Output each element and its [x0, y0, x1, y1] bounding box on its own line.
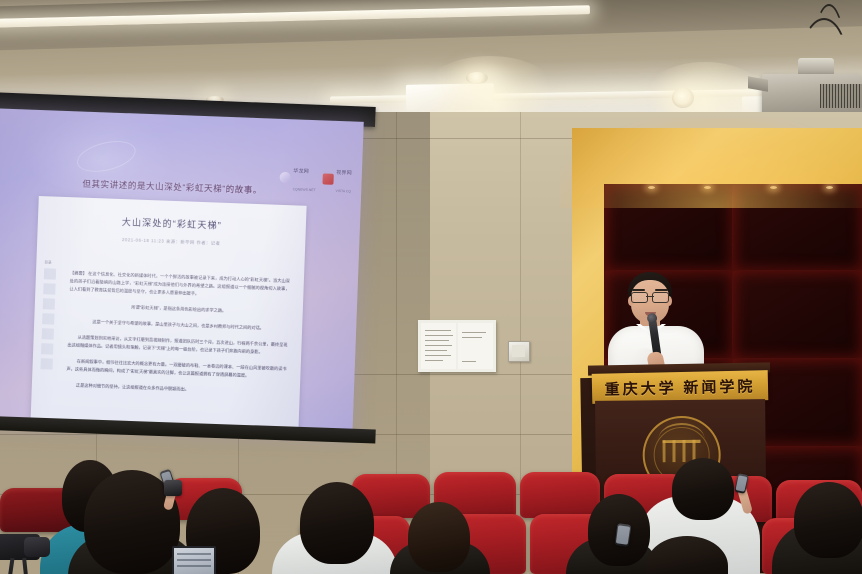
- light-switch[interactable]: [508, 341, 530, 362]
- logo-mark-icon: [280, 171, 291, 182]
- rail-block: [43, 283, 55, 294]
- logo-name: 华龙网: [293, 168, 309, 175]
- rail-caption: 目录: [44, 260, 56, 265]
- speaker-eyebrow: [655, 289, 668, 291]
- wall-notice: [418, 320, 496, 372]
- document-meta: 2021-06-18 11:23 来源：新华网 作者：记者: [37, 234, 305, 250]
- tripod-leg: [6, 558, 15, 574]
- audience-area: [0, 458, 862, 574]
- document-title: 大山深处的“彩虹天梯”: [38, 212, 306, 235]
- panel-led: [826, 186, 833, 189]
- notice-page-right: [458, 323, 493, 369]
- document-paragraph: 从选题策划到实地采访，从文字打磨到音视频制作，报道团队历时三个月，五次进山，行程…: [67, 333, 287, 357]
- logo-mark-icon: [323, 173, 334, 184]
- glasses-icon: [631, 292, 669, 301]
- auditorium-seat[interactable]: [520, 472, 600, 518]
- audience-person-head: [672, 458, 734, 520]
- ceiling-downlight: [672, 88, 694, 108]
- ceiling-beam: [0, 0, 862, 51]
- red-wall-panel: [732, 184, 862, 272]
- ceiling-downlight: [466, 72, 488, 84]
- seal-arc: [658, 423, 704, 455]
- speaker-eyebrow: [632, 289, 645, 291]
- document-paragraph: 这是一个关于坚守与希望的故事，是山里孩子与大山之间，也是乡村教师与时代之间的对话…: [68, 317, 288, 333]
- camera-icon: [164, 480, 182, 496]
- lecture-hall-photo: 华龙网 CQNEWS.NET 视界网 VISTA CQ 但其实讲述的是大山深处“…: [0, 0, 862, 574]
- panel-led: [704, 186, 711, 189]
- video-camera-rig: [0, 534, 60, 574]
- document-body: 【摘要】 在这个信息化、社交化的新媒体时代，一个个鲜活的故事被记录下来，成为打动…: [65, 269, 290, 405]
- projection-screen: 华龙网 CQNEWS.NET 视界网 VISTA CQ 但其实讲述的是大山深处“…: [0, 108, 364, 438]
- ceiling-panel-light: [406, 83, 494, 111]
- rail-block: [42, 328, 54, 339]
- panel-led: [770, 186, 777, 189]
- rail-block: [41, 343, 53, 354]
- red-wall-panel: [604, 184, 734, 272]
- panel-led: [648, 186, 655, 189]
- preview-monitor: [172, 546, 216, 574]
- document-sidebar-rail: 目录: [40, 260, 56, 373]
- document-paragraph: 在新闻叙事中，细节往往比宏大的概念更有力量。一双磨破的布鞋、一本卷边的课本、一段…: [66, 357, 286, 381]
- projector-vent: [820, 84, 862, 108]
- audience-person-head: [408, 502, 470, 572]
- tripod-leg: [22, 558, 30, 574]
- document-paragraph: 所谓“彩虹天梯”，是指这条用色彩绘出的求学之路。: [69, 301, 289, 317]
- slide-document: 大山深处的“彩虹天梯” 2021-06-18 11:23 来源：新华网 作者：记…: [30, 196, 306, 438]
- rail-block: [40, 358, 52, 369]
- rail-block: [44, 268, 56, 279]
- red-wall-panel: [732, 270, 862, 360]
- camera-lens-icon: [24, 537, 50, 557]
- rail-block: [43, 298, 55, 309]
- logo-name: 视界网: [336, 170, 352, 177]
- rail-block: [42, 313, 54, 324]
- podium-sign-text: 重庆大学 新闻学院: [592, 375, 768, 400]
- document-paragraph: 正是这种对细节的坚持，让这组报道在众多作品中脱颖而出。: [66, 381, 286, 397]
- document-paragraph: 【摘要】 在这个信息化、社交化的新媒体时代，一个个鲜活的故事被记录下来，成为打动…: [69, 269, 290, 301]
- notice-page-left: [421, 323, 456, 369]
- audience-person-head: [794, 482, 862, 558]
- audience-person-head: [300, 482, 374, 564]
